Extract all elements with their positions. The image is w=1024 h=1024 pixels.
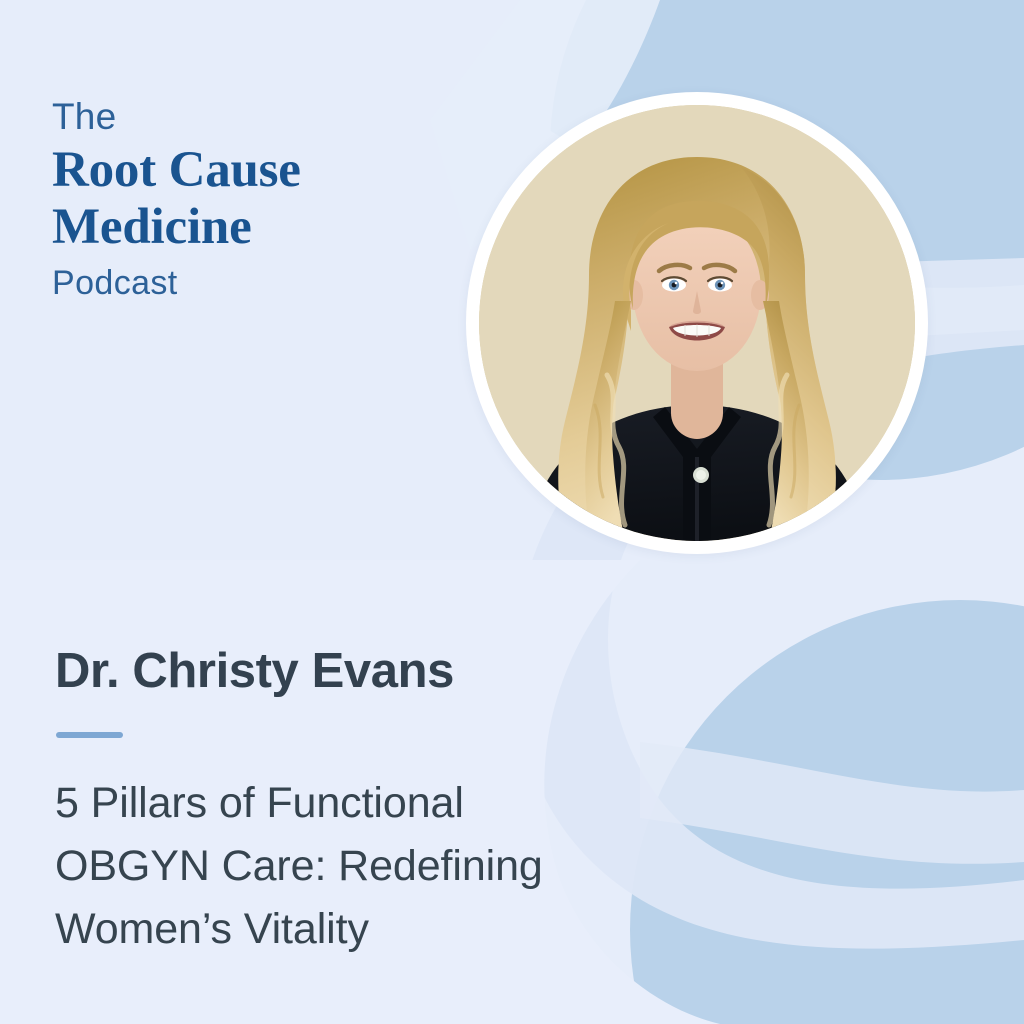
guest-name: Dr. Christy Evans: [55, 643, 454, 699]
podcast-logo: The Root Cause Medicine Podcast: [52, 98, 472, 300]
guest-portrait-photo: [479, 105, 915, 541]
logo-the-text: The: [52, 98, 472, 135]
logo-show-name: Root Cause Medicine: [52, 142, 472, 256]
episode-title-line-3: Women’s Vitality: [55, 898, 745, 961]
episode-title-line-2: OBGYN Care: Redefining: [55, 835, 745, 898]
episode-title: 5 Pillars of Functional OBGYN Care: Rede…: [55, 772, 745, 962]
title-divider: [56, 732, 123, 738]
episode-title-line-1: 5 Pillars of Functional: [55, 772, 745, 835]
podcast-episode-cover: The Root Cause Medicine Podcast: [0, 0, 1024, 1024]
guest-portrait-ring: [466, 92, 928, 554]
logo-podcast-text: Podcast: [52, 266, 472, 300]
